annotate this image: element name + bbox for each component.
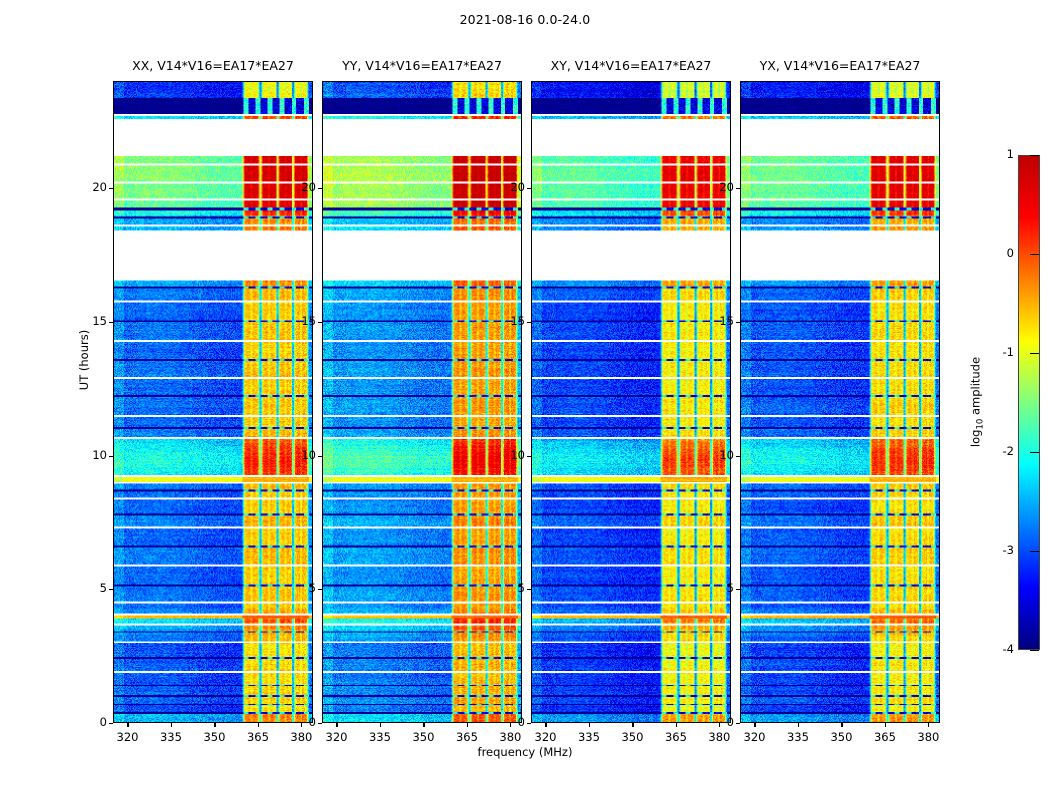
x-tick-mark (423, 723, 424, 727)
x-tick-mark (676, 723, 677, 727)
y-tick-mark (736, 188, 740, 189)
y-tick-mark (109, 188, 113, 189)
y-tick-mark (527, 322, 531, 323)
x-tick-mark (632, 723, 633, 727)
y-tick-mark (527, 589, 531, 590)
x-tick-mark (545, 723, 546, 727)
y-tick-label: 10 (282, 448, 316, 462)
x-tick-label: 365 (656, 730, 696, 744)
y-tick-label: 5 (282, 581, 316, 595)
waterfall-panel-yx[interactable] (740, 81, 940, 723)
waterfall-image-yx (741, 82, 939, 722)
colorbar-tick-mark (1030, 353, 1039, 354)
y-tick-label: 10 (491, 448, 525, 462)
y-tick-mark (736, 589, 740, 590)
x-tick-label: 320 (316, 730, 356, 744)
y-tick-label: 10 (700, 448, 734, 462)
x-tick-mark (798, 723, 799, 727)
y-tick-label: 15 (491, 314, 525, 328)
y-tick-mark (318, 723, 322, 724)
x-tick-mark (214, 723, 215, 727)
x-tick-label: 320 (107, 730, 147, 744)
y-axis-label: UT (hours) (77, 330, 91, 390)
colorbar[interactable] (1018, 155, 1040, 650)
x-tick-label: 335 (778, 730, 818, 744)
y-tick-mark (109, 589, 113, 590)
x-tick-mark (885, 723, 886, 727)
colorbar-tick-label: -1 (984, 345, 1014, 359)
y-tick-label: 0 (491, 715, 525, 729)
x-tick-label: 365 (238, 730, 278, 744)
y-tick-label: 0 (73, 715, 107, 729)
y-tick-label: 5 (700, 581, 734, 595)
x-tick-mark (841, 723, 842, 727)
y-tick-mark (527, 456, 531, 457)
y-tick-mark (736, 456, 740, 457)
y-tick-mark (318, 188, 322, 189)
y-tick-mark (318, 589, 322, 590)
x-tick-label: 380 (699, 730, 739, 744)
y-tick-label: 10 (73, 448, 107, 462)
colorbar-tick-label: -3 (984, 543, 1014, 557)
y-tick-label: 15 (700, 314, 734, 328)
x-tick-mark (589, 723, 590, 727)
colorbar-gradient (1019, 156, 1039, 649)
colorbar-tick-mark (1030, 155, 1039, 156)
y-tick-label: 0 (700, 715, 734, 729)
x-tick-label: 350 (194, 730, 234, 744)
figure-suptitle: 2021-08-16 0.0-24.0 (0, 12, 1050, 27)
x-tick-label: 350 (403, 730, 443, 744)
x-tick-mark (258, 723, 259, 727)
colorbar-tick-label: 1 (984, 147, 1014, 161)
x-tick-label: 380 (490, 730, 530, 744)
x-tick-mark (380, 723, 381, 727)
x-tick-mark (754, 723, 755, 727)
y-tick-label: 20 (73, 180, 107, 194)
y-tick-mark (109, 322, 113, 323)
x-tick-mark (467, 723, 468, 727)
waterfall-image-yy (323, 82, 521, 722)
x-tick-label: 335 (151, 730, 191, 744)
x-tick-label: 335 (569, 730, 609, 744)
y-tick-mark (109, 456, 113, 457)
waterfall-image-xx (114, 82, 312, 722)
x-tick-label: 380 (281, 730, 321, 744)
waterfall-panel-yy[interactable] (322, 81, 522, 723)
panel-title-yx: YX, V14*V16=EA17*EA27 (710, 58, 970, 73)
x-tick-label: 380 (908, 730, 948, 744)
colorbar-tick-mark (1030, 650, 1039, 651)
x-tick-label: 320 (734, 730, 774, 744)
colorbar-tick-mark (1030, 551, 1039, 552)
y-tick-label: 20 (491, 180, 525, 194)
colorbar-tick-mark (1030, 254, 1039, 255)
y-tick-mark (736, 322, 740, 323)
y-tick-mark (318, 322, 322, 323)
y-tick-label: 20 (700, 180, 734, 194)
colorbar-tick-label: 0 (984, 246, 1014, 260)
x-axis-label: frequency (MHz) (0, 745, 1050, 759)
y-tick-label: 0 (282, 715, 316, 729)
x-tick-mark (171, 723, 172, 727)
y-tick-mark (527, 723, 531, 724)
colorbar-label: log10 amplitude (968, 357, 985, 447)
x-tick-label: 350 (612, 730, 652, 744)
waterfall-panel-xy[interactable] (531, 81, 731, 723)
colorbar-tick-label: -4 (984, 642, 1014, 656)
x-tick-mark (127, 723, 128, 727)
y-tick-label: 5 (73, 581, 107, 595)
y-tick-label: 5 (491, 581, 525, 595)
y-tick-mark (109, 723, 113, 724)
x-tick-label: 365 (447, 730, 487, 744)
y-tick-mark (736, 723, 740, 724)
y-tick-mark (318, 456, 322, 457)
waterfall-image-xy (532, 82, 730, 722)
x-tick-mark (928, 723, 929, 727)
waterfall-panel-xx[interactable] (113, 81, 313, 723)
colorbar-tick-label: -2 (984, 444, 1014, 458)
y-tick-label: 20 (282, 180, 316, 194)
x-tick-label: 350 (821, 730, 861, 744)
y-tick-label: 15 (282, 314, 316, 328)
colorbar-tick-mark (1030, 452, 1039, 453)
y-tick-label: 15 (73, 314, 107, 328)
x-tick-label: 365 (865, 730, 905, 744)
y-tick-mark (527, 188, 531, 189)
x-tick-label: 335 (360, 730, 400, 744)
x-tick-mark (336, 723, 337, 727)
x-tick-label: 320 (525, 730, 565, 744)
